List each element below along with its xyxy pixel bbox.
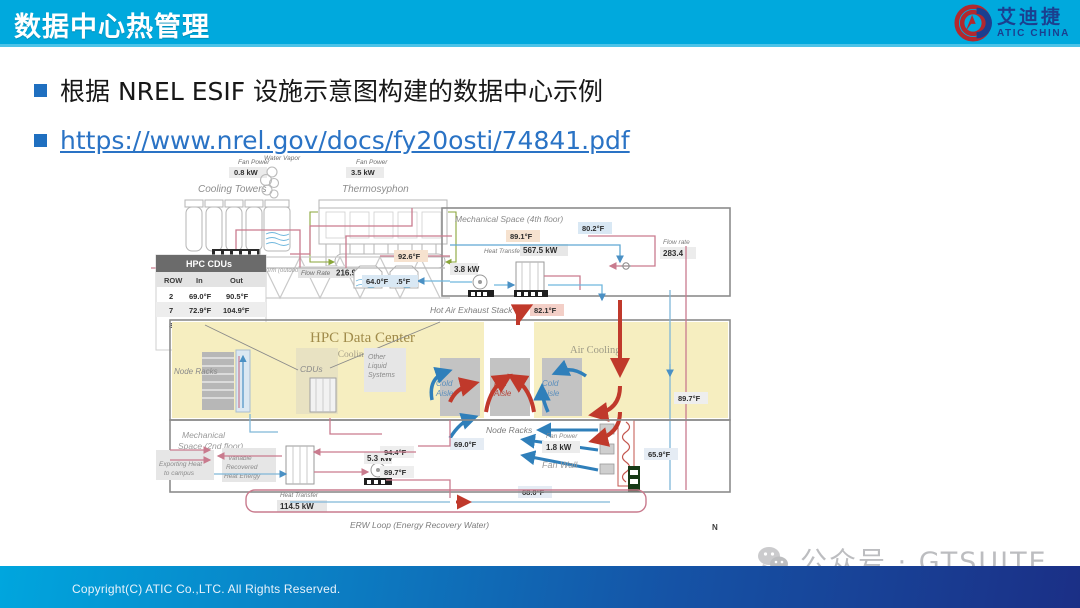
hot-air-exhaust-stack-label: Hot Air Exhaust Stack: [430, 305, 513, 315]
fan-wall-label: Fan Wall: [542, 460, 578, 470]
exporting-heat-label-1: Exporting Heat: [159, 461, 203, 468]
temp-chip-89-7-left: 89.7°F: [380, 466, 414, 478]
svg-text:89.7°F: 89.7°F: [384, 468, 407, 477]
svg-text:89.1°F: 89.1°F: [510, 232, 533, 241]
logo-chinese-name: 艾迪捷: [997, 8, 1070, 27]
cdus-label: CDUs: [300, 364, 323, 374]
temp-chip-92-6: 92.6°F: [394, 250, 428, 262]
node-racks-left-label: Node Racks: [174, 367, 218, 376]
fan-power-ct-value: 0.8 kW: [234, 168, 259, 177]
svg-text:64.0°F: 64.0°F: [366, 277, 389, 286]
header-underline: [0, 44, 1080, 47]
cdu-table-title: HPC CDUs: [186, 259, 232, 269]
svg-text:2: 2: [169, 292, 173, 301]
svg-text:7: 7: [169, 306, 173, 315]
erw-loop-label: ERW Loop (Energy Recovery Water): [350, 520, 489, 530]
mech-space-4th-label: Mechanical Space (4th floor): [455, 214, 563, 224]
heat-exchanger-4th: [516, 262, 544, 292]
atic-logo: 艾迪捷 ATIC CHINA: [953, 3, 1070, 43]
temp-chip-69-0: 69.0°F: [450, 438, 484, 450]
svg-text:82.1°F: 82.1°F: [534, 306, 557, 315]
cold-aisle-2-label: Cold: [542, 379, 559, 388]
square-bullet-icon: [34, 134, 47, 147]
mech-space-2nd-label-line1: Mechanical: [182, 430, 226, 440]
cdu-heat-exchanger: [310, 378, 336, 412]
cdu-col-out: Out: [230, 276, 243, 285]
svg-text:Liquid: Liquid: [368, 363, 388, 370]
node-racks-center-label: Node Racks: [486, 425, 533, 435]
temp-chip-65-9: 65.9°F: [644, 448, 678, 460]
flow-rate-2-caption: Flow rate: [663, 239, 690, 246]
node-racks-left-unit: [202, 352, 234, 410]
temp-chip-82-1: 82.1°F: [530, 304, 564, 316]
heat-exchanger-2nd: [286, 446, 314, 484]
fan-power-ts-value: 3.5 kW: [351, 168, 376, 177]
heat-transfer-value: 567.5 kW: [523, 246, 558, 255]
svg-text:65.9°F: 65.9°F: [648, 450, 671, 459]
svg-text:89.7°F: 89.7°F: [678, 394, 701, 403]
other-liquid-systems-label: Other: [368, 354, 386, 361]
flow-rate-value: 216.9: [336, 269, 357, 278]
hpc-data-center-title: HPC Data Center: [310, 330, 415, 346]
cdu-col-in: In: [196, 276, 203, 285]
svg-text:92.6°F: 92.6°F: [398, 252, 421, 261]
svg-text:80.2°F: 80.2°F: [582, 224, 605, 233]
fan-power-wall-caption: Fan Power: [546, 433, 578, 440]
flow-rate-caption: Flow Rate: [301, 270, 331, 277]
bullet-1-text: 根据 NREL ESIF 设施示意图构建的数据中心示例: [60, 72, 603, 108]
svg-text:104.9°F: 104.9°F: [223, 306, 250, 315]
water-vapor-label: Water Vapor: [264, 155, 301, 162]
page-title: 数据中心热管理: [14, 5, 210, 44]
fan-power-ts-caption: Fan Power: [356, 159, 388, 166]
logo-english-name: ATIC CHINA: [997, 29, 1070, 39]
square-bullet-icon: [34, 84, 47, 97]
copyright-text: Copyright(C) ATIC Co.,LTC. All Rights Re…: [72, 582, 340, 596]
temp-chip-89-7-right: 89.7°F: [674, 392, 708, 404]
cold-aisle-1-label: Cold: [436, 379, 453, 388]
heat-transfer-2-caption: Heat Transfer: [280, 492, 319, 499]
flow-rate-2-value: 283.4: [663, 249, 684, 258]
nrel-esif-diagram: Fan Power 0.8 kW Water Vapor Cooling Tow…: [150, 150, 750, 540]
svg-text:69.0°F: 69.0°F: [189, 292, 212, 301]
svg-text:Systems: Systems: [368, 372, 395, 379]
temp-chip-89-1: 89.1°F: [506, 230, 540, 242]
heat-transfer-caption: Heat Transfer: [484, 248, 523, 255]
pump-power-4th: 3.8 kW: [454, 265, 480, 274]
svg-text:72.9°F: 72.9°F: [189, 306, 212, 315]
cooling-towers-unit: [185, 200, 290, 251]
svg-text:90.5°F: 90.5°F: [226, 292, 249, 301]
exporting-heat-label-2: to campus: [164, 470, 195, 477]
thermosyphon-label: Thermosyphon: [342, 184, 409, 195]
temp-chip-80-2: 80.2°F: [578, 222, 612, 234]
fan-power-wall-value: 1.8 kW: [546, 443, 572, 452]
cdu-col-row: ROW: [164, 276, 183, 285]
atic-circular-logo-icon: [953, 4, 993, 42]
air-cooling-label: Air Cooling: [570, 345, 621, 356]
north-marker: N: [712, 523, 718, 532]
svg-text:69.0°F: 69.0°F: [454, 440, 477, 449]
bullet-item-1: 根据 NREL ESIF 设施示意图构建的数据中心示例: [34, 72, 603, 108]
variable-recovered-label-2: Recovered: [226, 464, 258, 471]
temp-chip-64-0: 64.0°F: [362, 275, 396, 287]
cooling-towers-label: Cooling Towers: [198, 184, 267, 195]
rack-heat-exchanger-left: [236, 350, 250, 412]
heat-transfer-2-value: 114.5 kW: [280, 502, 314, 511]
